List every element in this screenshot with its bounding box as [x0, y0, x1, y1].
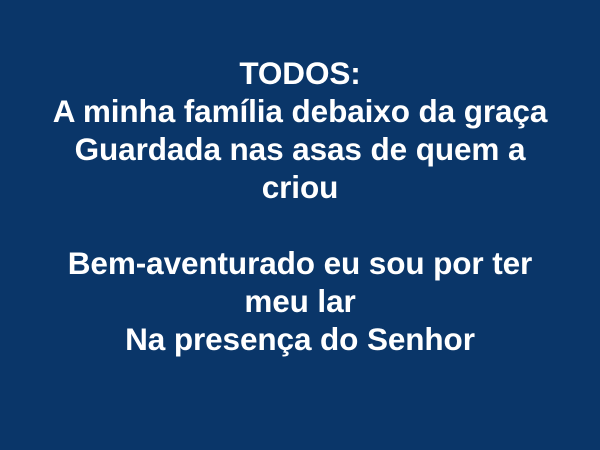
lyric-line-blank-separator	[0, 206, 600, 244]
lyric-line-2: Guardada nas asas de quem a	[0, 130, 600, 168]
lyric-line-1: A minha família debaixo da graça	[0, 92, 600, 130]
lyric-line-6: Na presença do Senhor	[0, 320, 600, 358]
lyric-line-3: criou	[0, 168, 600, 206]
lyrics-slide: TODOS: A minha família debaixo da graça …	[0, 0, 600, 450]
lyric-line-5: meu lar	[0, 282, 600, 320]
lyric-line-speaker: TODOS:	[0, 54, 600, 92]
lyrics-text-block: TODOS: A minha família debaixo da graça …	[0, 0, 600, 358]
lyric-line-4: Bem-aventurado eu sou por ter	[0, 244, 600, 282]
